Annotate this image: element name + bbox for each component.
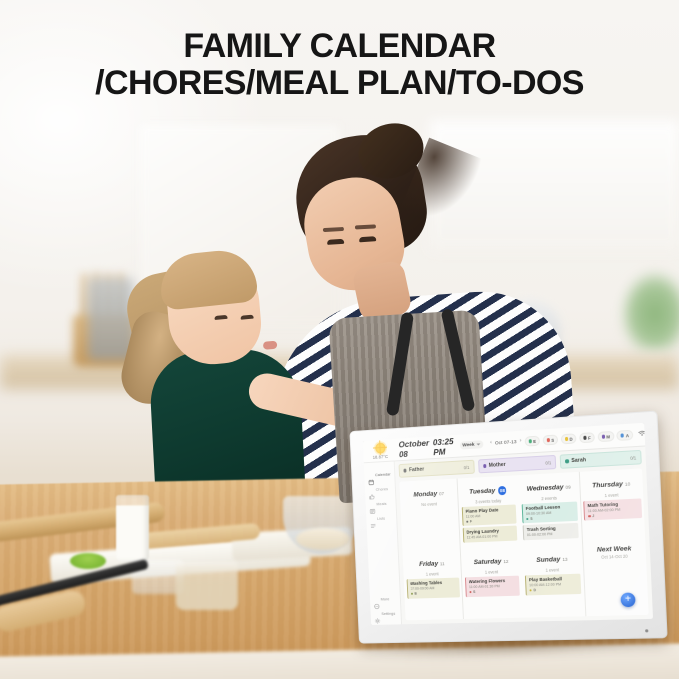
member-initial: E	[533, 438, 536, 443]
event-card[interactable]: Washing Tables07:00-09:00 AMB	[406, 578, 460, 599]
day-header: Tuesday083 events today	[460, 478, 515, 504]
event-card[interactable]: Football Lesson09:00-10:30 AMS	[521, 501, 578, 523]
member-summary-card[interactable]: Mother0/1	[478, 455, 557, 474]
day-event-count: 1 event	[406, 570, 459, 577]
headline: FAMILY CALENDAR /CHORES/MEAL PLAN/TO-DOS	[0, 28, 679, 103]
gear-icon	[374, 611, 380, 617]
event-owner-dot	[411, 593, 414, 596]
day-event-count: 1 event	[464, 568, 519, 575]
flour-jar	[176, 562, 238, 610]
chevron-down-icon	[476, 443, 480, 445]
event-time: 11:45 AM-01:00 PM	[467, 534, 515, 540]
view-selector-label: Week	[462, 442, 474, 448]
event-owner: B	[410, 591, 457, 596]
day-name: Tuesday08	[469, 486, 507, 496]
event-card[interactable]: Math Tutoring11:00 AM-02:00 PMJ	[583, 498, 641, 520]
day-name-label: Thursday	[592, 481, 623, 490]
member-color-dot	[403, 469, 406, 472]
current-date: October 08	[398, 438, 429, 459]
event-owner: J	[588, 512, 638, 518]
event-owner-initial: J	[592, 514, 594, 518]
device-screen: 18.87°C October 08 03:25 PM Week ‹ Oct 0…	[363, 423, 653, 625]
next-week-cell[interactable]: Next WeekOct 14-Oct 20+	[583, 542, 649, 616]
day-number: 07	[439, 491, 444, 496]
member-task-count: 0/1	[545, 460, 551, 465]
member-name: Mother	[489, 462, 506, 469]
event-owner-dot	[588, 515, 591, 518]
day-event-list: Piano Play Date11:00 AMFDrying Laundry11…	[461, 504, 517, 542]
wifi-icon	[638, 430, 646, 439]
day-event-list: Watering Flowers11:00 AM-01:30 PMS	[465, 576, 520, 597]
event-card[interactable]: Play Basketball10:00 AM-12:00 PMD	[525, 574, 582, 595]
list-icon	[369, 516, 375, 522]
day-event-count: No event	[403, 500, 456, 508]
day-cell[interactable]: Friday111 eventWashing Tables07:00-09:00…	[402, 549, 463, 620]
milk-glass	[116, 495, 149, 562]
event-owner-initial: D	[533, 588, 536, 592]
member-initial: D	[569, 436, 572, 441]
member-color-dot	[546, 438, 549, 441]
member-name: Father	[409, 467, 424, 474]
today-badge: 08	[498, 486, 507, 495]
event-owner-dot	[469, 591, 472, 594]
event-owner-initial: F	[470, 519, 472, 523]
day-cell[interactable]: Wednesday092 eventsFootball Lesson09:00-…	[518, 472, 582, 546]
headline-line-1: FAMILY CALENDAR	[0, 28, 679, 65]
event-time: 01:00-02:00 PM	[527, 531, 576, 537]
member-color-dot	[565, 460, 569, 464]
screen-body: CalendarChoresMealsListsMoreSettings Fat…	[364, 447, 653, 625]
event-owner: D	[529, 587, 578, 592]
sidebar-item-label: Calendar	[375, 471, 391, 477]
child-figure	[130, 242, 320, 492]
calendar-icon	[368, 472, 374, 478]
member-name: Sarah	[571, 457, 586, 464]
sidebar-item-label: Chores	[376, 486, 389, 492]
member-chip[interactable]: F	[579, 432, 595, 443]
day-cell[interactable]: Thursday101 eventMath Tutoring11:00 AM-0…	[579, 468, 645, 543]
week-grid: Monday07No eventTuesday083 events todayP…	[399, 468, 648, 620]
sidebar-item-more[interactable]: More	[370, 591, 401, 606]
device-bezel: 18.87°C October 08 03:25 PM Week ‹ Oct 0…	[349, 411, 667, 644]
status-led	[645, 629, 648, 632]
sidebar-item-label: Lists	[377, 516, 385, 521]
member-color-dot	[483, 464, 486, 468]
member-chip[interactable]: M	[597, 431, 614, 442]
day-name-label: Tuesday	[469, 487, 495, 495]
prev-week-button[interactable]: ‹	[490, 441, 492, 447]
member-color-dot	[583, 436, 586, 439]
next-week-button[interactable]: ›	[520, 439, 522, 445]
event-owner: F	[466, 517, 514, 523]
meal-icon	[369, 501, 375, 507]
day-header: Sunday131 event	[524, 548, 581, 574]
day-header: Thursday101 event	[582, 472, 641, 499]
member-initial: S	[551, 437, 554, 442]
date-range-nav: ‹ Oct 07-13 ›	[490, 439, 522, 446]
day-number: 13	[562, 557, 567, 562]
sidebar-item-settings[interactable]: Settings	[370, 606, 401, 621]
day-header: Monday07No event	[402, 482, 456, 508]
member-chip-row: ESDFMA	[524, 430, 633, 447]
day-number: 09	[565, 485, 570, 490]
event-card[interactable]: Drying Laundry11:45 AM-01:00 PM	[462, 526, 517, 543]
sidebar-item-label: Meals	[376, 501, 386, 506]
next-week-title: Next Week	[597, 546, 632, 554]
day-name: Sunday13	[536, 556, 568, 564]
day-name-label: Sunday	[536, 556, 560, 564]
day-cell[interactable]: Tuesday083 events todayPiano Play Date11…	[458, 475, 521, 548]
day-event-list: Football Lesson09:00-10:30 AMSTrash Sort…	[521, 501, 579, 539]
day-cell[interactable]: Monday07No event	[399, 479, 460, 551]
dough	[296, 528, 350, 550]
day-name: Friday11	[419, 561, 445, 569]
datetime-display: October 08 03:25 PM	[398, 436, 454, 459]
day-name: Monday07	[413, 490, 444, 498]
member-summary-card[interactable]: Father0/1	[399, 460, 475, 478]
member-initial: A	[626, 433, 629, 438]
member-summary-card[interactable]: Sarah0/1	[560, 450, 642, 469]
sidebar-spacer	[367, 525, 400, 592]
day-name-label: Friday	[419, 561, 438, 569]
more-icon	[373, 596, 379, 602]
day-name: Wednesday09	[527, 484, 571, 493]
member-chip[interactable]: E	[524, 436, 540, 447]
day-header: Friday111 event	[405, 552, 459, 577]
day-name-label: Wednesday	[527, 484, 564, 493]
current-time: 03:25 PM	[433, 436, 454, 457]
weather-widget[interactable]: 18.87°C	[366, 441, 395, 459]
event-owner-initial: S	[473, 590, 475, 594]
member-chip[interactable]: S	[542, 434, 558, 445]
sun-icon	[375, 442, 386, 453]
member-color-dot	[601, 435, 604, 438]
sidebar-item-label: More	[381, 596, 390, 601]
background-plant	[620, 270, 679, 350]
day-event-list	[403, 507, 456, 510]
member-task-count: 0/1	[630, 455, 636, 460]
event-owner-initial: B	[414, 592, 417, 596]
next-week-header: Next WeekOct 14-Oct 20	[597, 546, 632, 561]
view-selector[interactable]: Week	[459, 440, 483, 449]
member-initial: F	[588, 435, 591, 440]
event-owner: S	[526, 515, 575, 521]
sidebar-item-meals[interactable]: Meals	[365, 496, 396, 512]
member-chip[interactable]: D	[560, 433, 576, 444]
day-event-count: 3 events today	[461, 497, 516, 505]
tablet-device: 18.87°C October 08 03:25 PM Week ‹ Oct 0…	[349, 411, 667, 644]
sidebar-item-lists[interactable]: Lists	[366, 510, 397, 526]
day-name: Saturday12	[474, 558, 509, 566]
app-content: Father0/1Mother0/1Sarah0/1 Monday07No ev…	[395, 447, 653, 625]
event-card[interactable]: Watering Flowers11:00 AM-01:30 PMS	[465, 576, 520, 597]
day-header: Saturday121 event	[463, 550, 519, 575]
day-event-list: Math Tutoring11:00 AM-02:00 PMJ	[583, 498, 641, 520]
add-event-button[interactable]: +	[620, 592, 635, 607]
day-header: Wednesday092 events	[520, 475, 577, 502]
next-week-range: Oct 14-Oct 20	[597, 554, 632, 560]
member-chip[interactable]: A	[616, 430, 633, 441]
sidebar-item-label: Settings	[381, 611, 395, 616]
day-event-count: 1 event	[524, 566, 580, 573]
day-event-count: 2 events	[521, 494, 577, 502]
day-number: 11	[440, 562, 445, 567]
event-card[interactable]: Piano Play Date11:00 AMF	[461, 504, 516, 526]
event-card[interactable]: Trash Sorting01:00-02:00 PM	[522, 523, 579, 540]
date-range-label: Oct 07-13	[495, 440, 517, 446]
headline-line-2: /CHORES/MEAL PLAN/TO-DOS	[0, 65, 679, 102]
sidebar-item-chores[interactable]: Chores	[365, 481, 396, 497]
event-owner-dot	[529, 589, 532, 592]
member-color-dot	[528, 440, 531, 443]
day-number: 12	[503, 559, 508, 564]
day-cell[interactable]: Saturday121 eventWatering Flowers11:00 A…	[461, 547, 524, 619]
day-number: 10	[625, 481, 631, 486]
day-event-list: Play Basketball10:00 AM-12:00 PMD	[525, 574, 582, 595]
day-name-label: Saturday	[474, 559, 502, 567]
day-name-label: Monday	[413, 491, 437, 499]
day-cell[interactable]: Sunday131 eventPlay Basketball10:00 AM-1…	[521, 544, 585, 617]
thumbs-up-icon	[368, 487, 374, 493]
promo-image-root: FAMILY CALENDAR /CHORES/MEAL PLAN/TO-DOS…	[0, 0, 679, 679]
day-name: Thursday10	[592, 480, 630, 489]
member-initial: M	[606, 434, 610, 439]
day-event-list: Washing Tables07:00-09:00 AMB	[406, 578, 460, 599]
event-owner: S	[469, 589, 517, 594]
event-owner-initial: S	[530, 517, 532, 521]
member-color-dot	[621, 434, 624, 437]
green-cutter	[70, 553, 106, 569]
member-task-count: 0/1	[464, 464, 470, 469]
member-color-dot	[565, 437, 568, 440]
day-event-count: 1 event	[583, 491, 641, 499]
event-owner-dot	[466, 520, 469, 523]
event-owner-dot	[526, 517, 529, 520]
